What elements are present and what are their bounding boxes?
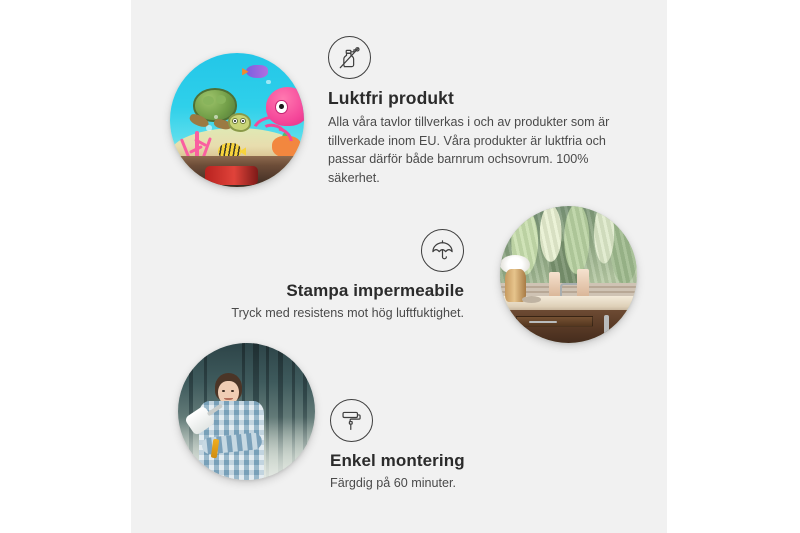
feature-body: Alla våra tavlor tillverkas i och av pro… <box>328 113 630 187</box>
sea-turtle <box>189 88 248 134</box>
feature-block-enkel-montering: Enkel montering Färgdig på 60 minuter. <box>330 399 560 493</box>
feature-title: Enkel montering <box>330 451 560 471</box>
feature-block-luktfri-produkt: Luktfri produkt Alla våra tavlor tillver… <box>328 36 630 187</box>
feature-title: Stampa impermeabile <box>212 281 464 301</box>
underwater-kids-scene-photo <box>170 53 304 187</box>
octopus <box>250 87 304 151</box>
purple-fish <box>246 65 267 78</box>
feature-body: Färgdig på 60 minuter. <box>330 474 560 493</box>
bathroom-leaf-wallpaper-photo <box>500 206 637 343</box>
woman-with-paint-roller-photo <box>178 343 315 480</box>
no-fragrance-icon <box>328 36 371 79</box>
toiletry-bottle <box>577 269 589 299</box>
umbrella-icon <box>421 229 464 272</box>
paint-roller-icon <box>330 399 373 442</box>
feature-body: Tryck med resistens mot hög luftfuktighe… <box>212 304 464 323</box>
toiletry-bottle <box>549 272 560 299</box>
sea-foreground-strip <box>170 156 304 187</box>
wooden-vanity <box>508 310 637 343</box>
feature-title: Luktfri produkt <box>328 88 630 109</box>
feature-block-stampa-impermeabile: Stampa impermeabile Tryck med resistens … <box>212 229 464 323</box>
product-feature-banner: Luktfri produkt Alla våra tavlor tillver… <box>0 0 800 533</box>
woman-figure <box>194 373 273 480</box>
